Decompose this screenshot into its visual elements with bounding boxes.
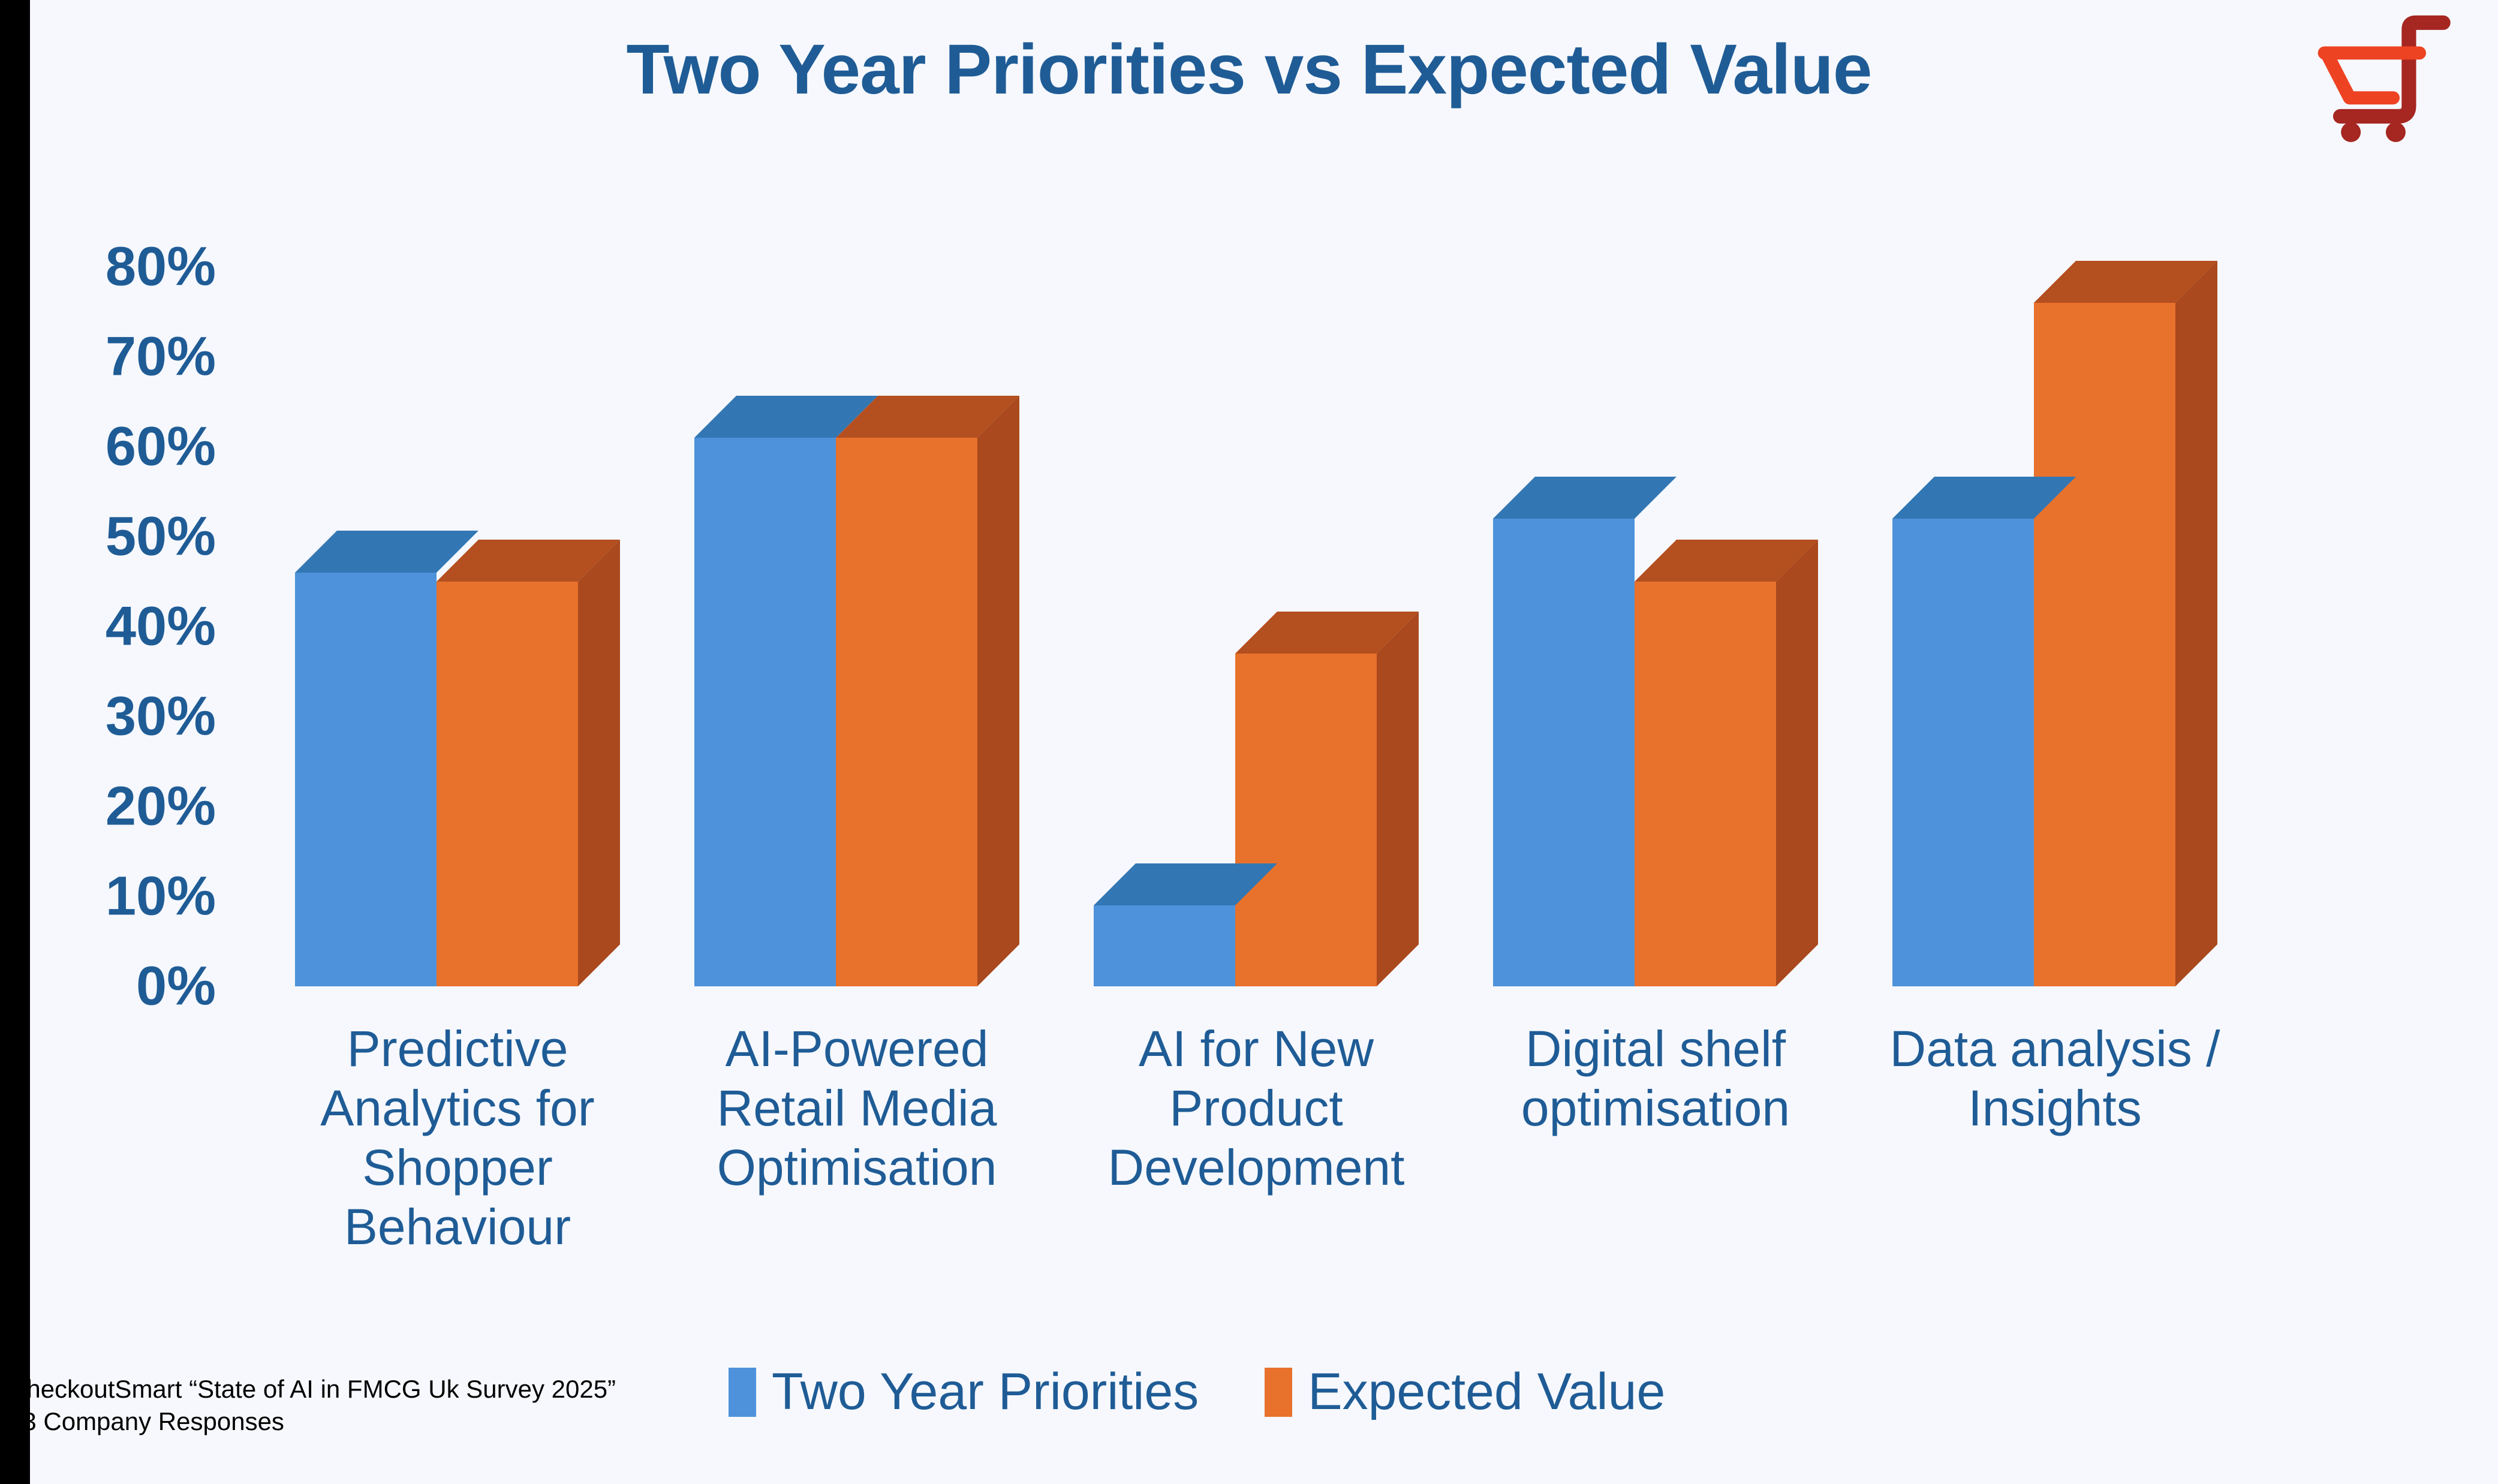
y-axis-tick: 60%	[36, 416, 216, 478]
x-axis-label-line: AI for New	[1057, 1019, 1456, 1079]
y-axis-tick: 0%	[36, 955, 216, 1018]
x-axis-label-line: Retail Media	[657, 1079, 1057, 1138]
x-axis-label-line: Data analysis /	[1855, 1019, 2255, 1079]
x-axis-label-line: Digital shelf	[1456, 1019, 1855, 1079]
x-axis-labels: PredictiveAnalytics forShopperBehaviourA…	[258, 1019, 2255, 1307]
bar-front-face	[437, 582, 578, 986]
legend-label: Expected Value	[1308, 1362, 1665, 1422]
bar-group	[1456, 0, 1855, 986]
bar-expected-value[interactable]	[2034, 303, 2175, 986]
bar-expected-value[interactable]	[1635, 582, 1776, 986]
bar-front-face	[1235, 654, 1377, 986]
bar-front-face	[1094, 905, 1235, 986]
x-axis-label-line: AI-Powered	[657, 1019, 1057, 1079]
chart-plot-area: 80%70%60%50%40%30%20%10%0% PredictiveAna…	[0, 0, 2498, 1484]
chart-legend: Two Year PrioritiesExpected Value	[729, 1362, 1665, 1422]
x-axis-label-line: Behaviour	[258, 1197, 657, 1257]
y-axis-tick: 30%	[36, 685, 216, 748]
bar-two-year-priorities[interactable]	[295, 573, 437, 986]
x-axis-label-line: optimisation	[1456, 1079, 1855, 1138]
y-axis-tick: 50%	[36, 505, 216, 568]
x-axis-label: Data analysis /Insights	[1855, 1019, 2255, 1138]
bar-side-face	[578, 540, 620, 986]
legend-swatch-icon	[729, 1368, 756, 1417]
bar-side-face	[2175, 261, 2217, 986]
y-axis-tick: 20%	[36, 775, 216, 838]
bar-top-face	[1493, 477, 1677, 519]
x-axis-label-line: Shopper	[258, 1138, 657, 1197]
x-axis-label: Digital shelfoptimisation	[1456, 1019, 1855, 1138]
x-axis-label-line: Product	[1057, 1079, 1456, 1138]
bar-side-face	[977, 396, 1019, 986]
bar-front-face	[836, 438, 977, 986]
x-axis-label-line: Predictive	[258, 1019, 657, 1079]
y-axis-tick: 10%	[36, 865, 216, 928]
y-axis-tick: 80%	[36, 236, 216, 299]
bar-expected-value[interactable]	[437, 582, 578, 986]
bar-group	[1057, 0, 1456, 986]
bar-front-face	[2034, 303, 2175, 986]
x-axis-label-line: Development	[1057, 1138, 1456, 1197]
bar-side-face	[1377, 612, 1419, 986]
legend-swatch-icon	[1265, 1368, 1292, 1417]
bar-two-year-priorities[interactable]	[694, 438, 836, 986]
x-axis-label-line: Analytics for	[258, 1079, 657, 1138]
legend-label: Two Year Priorities	[772, 1362, 1199, 1422]
x-axis-label-line: Optimisation	[657, 1138, 1057, 1197]
bar-expected-value[interactable]	[1235, 654, 1377, 986]
legend-item[interactable]: Two Year Priorities	[729, 1362, 1199, 1422]
bar-front-face	[1635, 582, 1776, 986]
bar-group	[657, 0, 1057, 986]
source-note: CheckoutSmart “State of AI in FMCG Uk Su…	[8, 1373, 616, 1438]
x-axis-label: PredictiveAnalytics forShopperBehaviour	[258, 1019, 657, 1257]
bars-layer	[258, 0, 2255, 986]
left-edge-strip	[0, 0, 30, 1484]
y-axis: 80%70%60%50%40%30%20%10%0%	[0, 0, 216, 1484]
bar-two-year-priorities[interactable]	[1094, 905, 1235, 986]
x-axis-label: AI for NewProductDevelopment	[1057, 1019, 1456, 1197]
bar-top-face	[295, 531, 478, 573]
x-axis-label-line: Insights	[1855, 1079, 2255, 1138]
bar-front-face	[1493, 519, 1635, 986]
bar-two-year-priorities[interactable]	[1493, 519, 1635, 986]
bar-side-face	[1776, 540, 1818, 986]
bar-front-face	[295, 573, 437, 986]
bar-group	[258, 0, 657, 986]
legend-item[interactable]: Expected Value	[1265, 1362, 1665, 1422]
bar-two-year-priorities[interactable]	[1892, 519, 2034, 986]
bar-front-face	[1892, 519, 2034, 986]
y-axis-tick: 70%	[36, 326, 216, 389]
x-axis-label: AI-PoweredRetail MediaOptimisation	[657, 1019, 1057, 1197]
bar-expected-value[interactable]	[836, 438, 977, 986]
y-axis-tick: 40%	[36, 595, 216, 658]
bar-group	[1855, 0, 2255, 986]
bar-front-face	[694, 438, 836, 986]
